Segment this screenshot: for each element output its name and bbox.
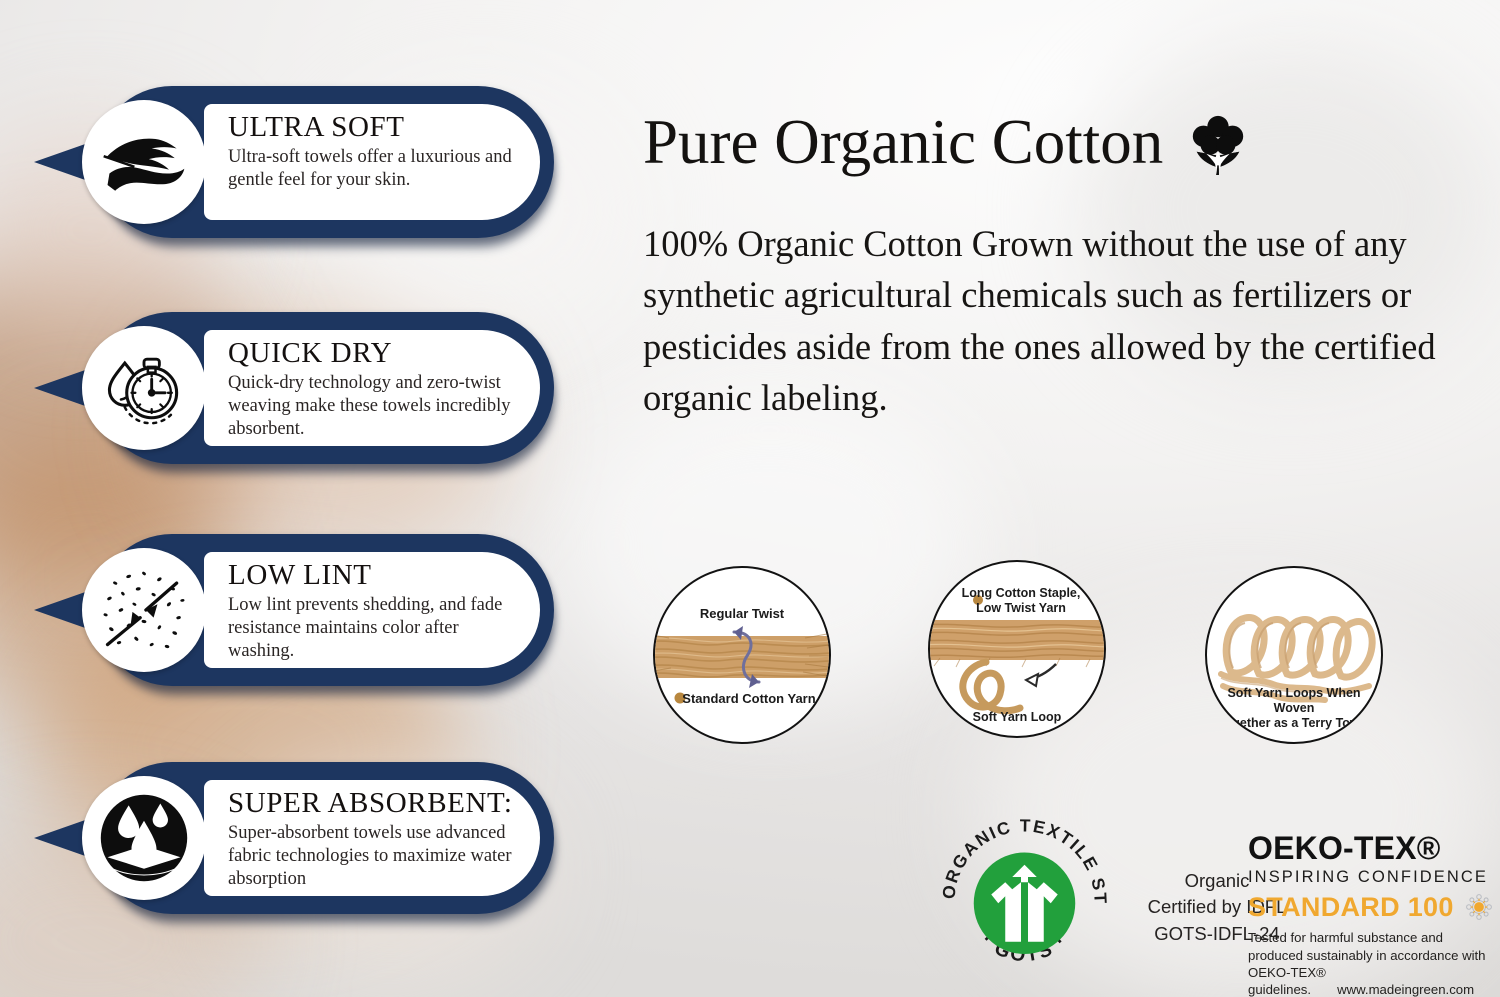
card-text-panel: QUICK DRY Quick-dry technology and zero-… <box>204 330 540 446</box>
right-column: Pure Organic Cotton 100% Organic C <box>640 0 1500 997</box>
feature-card-super-absorbent[interactable]: SUPER ABSORBENT: Super-absorbent towels … <box>18 762 568 922</box>
page-title: Pure Organic Cotton <box>643 111 1163 174</box>
feature-card-quick-dry[interactable]: QUICK DRY Quick-dry technology and zero-… <box>18 312 568 472</box>
yarn-label-top: Long Cotton Staple, Low Twist Yarn <box>938 586 1104 616</box>
feather-in-hand-icon <box>82 100 206 224</box>
hero-body-text: 100% Organic Cotton Grown without the us… <box>643 218 1473 424</box>
feature-card-low-lint[interactable]: LOW LINT Low lint prevents shedding, and… <box>18 534 568 694</box>
feature-description: Quick-dry technology and zero-twist weav… <box>228 372 520 442</box>
feature-list: ULTRA SOFT Ultra-soft towels offer a lux… <box>0 0 600 997</box>
cotton-boll-icon <box>1187 113 1249 175</box>
droplet-stopwatch-icon <box>82 326 206 450</box>
gots-logo-icon: GLOBAL ORGANIC TEXTILE STANDARD · GOTS · <box>937 814 1112 989</box>
oeko-disclaimer-tail: guidelines. <box>1248 982 1311 997</box>
yarn-label-bottom: Soft Yarn Loop <box>930 710 1104 725</box>
feature-card-ultra-soft[interactable]: ULTRA SOFT Ultra-soft towels offer a lux… <box>18 86 568 246</box>
oeko-tagline: INSPIRING CONFIDENCE <box>1248 868 1498 887</box>
feature-title: QUICK DRY <box>228 339 520 369</box>
hero-headline-row: Pure Organic Cotton <box>643 104 1493 180</box>
water-absorption-icon <box>82 776 206 900</box>
oeko-standard: STANDARD 100 <box>1248 894 1454 921</box>
oeko-tex-logo-icon: OEKO-TEX® INSPIRING CONFIDENCE STANDARD … <box>1248 832 1498 997</box>
low-twist-yarn-diagram: Long Cotton Staple, Low Twist Yarn Soft … <box>928 560 1106 738</box>
oeko-brand: OEKO-TEX® <box>1248 832 1498 864</box>
yarn-diagram-group: Regular Twist Standard Cotton Yarn <box>640 558 1500 748</box>
infographic-canvas: ULTRA SOFT Ultra-soft towels offer a lux… <box>0 0 1500 997</box>
oeko-sunburst-icon <box>1464 892 1494 922</box>
feature-description: Low lint prevents shedding, and fade res… <box>228 594 520 664</box>
card-text-panel: LOW LINT Low lint prevents shedding, and… <box>204 552 540 668</box>
oeko-website: www.madeingreen.com <box>1337 982 1474 997</box>
yarn-label-bottom: Standard Cotton Yarn <box>669 691 829 707</box>
feature-description: Super-absorbent towels use advanced fabr… <box>228 822 520 892</box>
regular-twist-diagram: Regular Twist Standard Cotton Yarn <box>653 566 831 744</box>
feature-description: Ultra-soft towels offer a luxurious and … <box>228 146 520 193</box>
certification-group: GLOBAL ORGANIC TEXTILE STANDARD · GOTS ·… <box>640 800 1500 990</box>
feature-title: SUPER ABSORBENT: <box>228 789 520 819</box>
oeko-disclaimer: Tested for harmful substance and produce… <box>1248 929 1498 982</box>
feature-title: LOW LINT <box>228 561 520 591</box>
yarn-label-bottom: Soft Yarn Loops When Woven Together as a… <box>1209 686 1379 731</box>
yarn-label-top: Regular Twist <box>655 606 829 622</box>
card-text-panel: SUPER ABSORBENT: Super-absorbent towels … <box>204 780 540 896</box>
terry-towel-loops-diagram: Soft Yarn Loops When Woven Together as a… <box>1205 566 1383 744</box>
lint-particles-icon <box>82 548 206 672</box>
card-text-panel: ULTRA SOFT Ultra-soft towels offer a lux… <box>204 104 540 220</box>
feature-title: ULTRA SOFT <box>228 113 520 143</box>
